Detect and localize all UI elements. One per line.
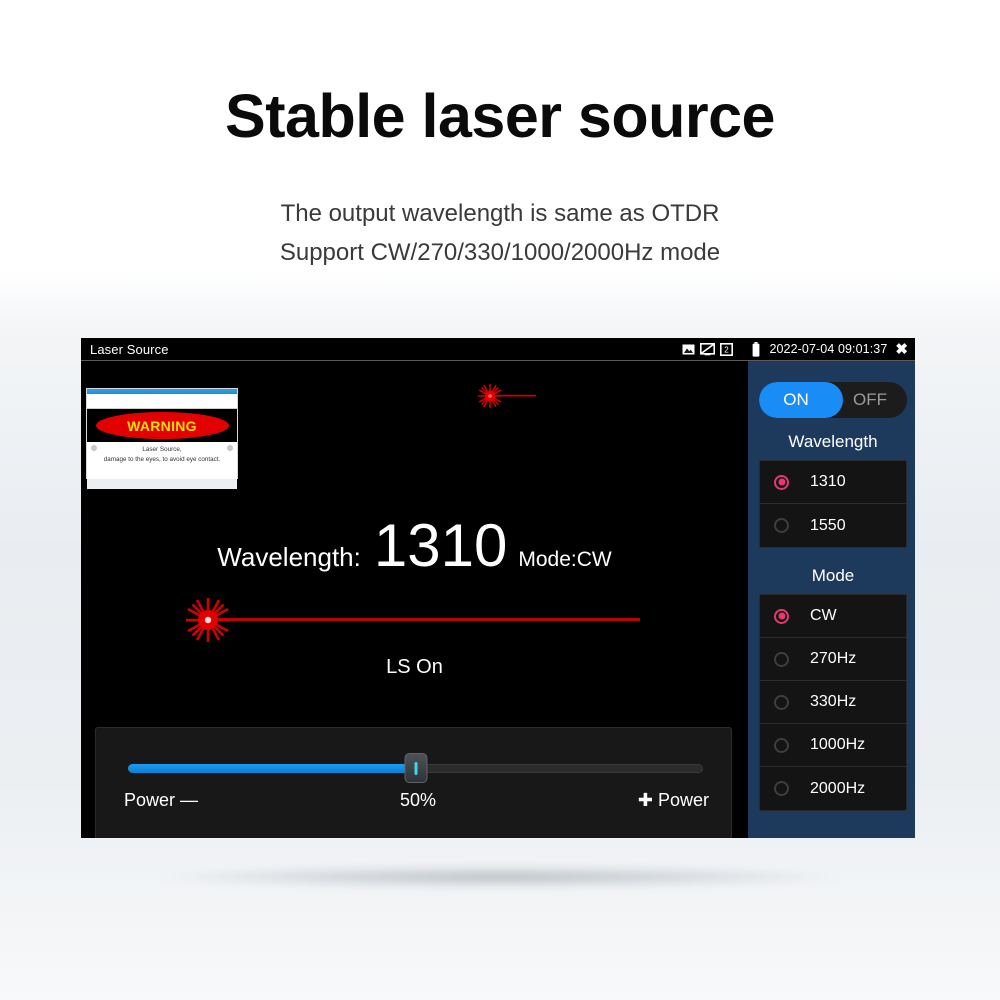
side-panel: ON OFF Wavelength 1310 1550 Mode CW <box>748 361 915 838</box>
warning-corner-dot-left <box>91 445 97 451</box>
sd-card-icon[interactable]: 2 <box>720 343 733 356</box>
wavelength-readout-value: 1310 <box>374 516 507 576</box>
no-signal-icon[interactable] <box>700 343 715 356</box>
warning-corner-dot-right <box>227 445 233 451</box>
power-increase-button[interactable]: ✚ Power <box>638 790 709 811</box>
wavelength-readout-label: Wavelength: <box>217 542 361 573</box>
image-icon[interactable] <box>682 344 695 355</box>
hero-subtitle-1: The output wavelength is same as OTDR <box>0 196 1000 232</box>
status-icon-group: 2 <box>682 342 760 357</box>
app-title: Laser Source <box>90 342 169 357</box>
wavelength-option-1310[interactable]: 1310 <box>760 461 906 504</box>
mode-option-1000hz[interactable]: 1000Hz <box>760 724 906 767</box>
warning-dialog-footer <box>87 479 237 489</box>
toggle-on-option[interactable]: ON <box>759 382 833 418</box>
mode-option-270hz[interactable]: 270Hz <box>760 638 906 681</box>
laser-warning-dialog: WARNING Laser Source, damage to the eyes… <box>86 388 238 479</box>
wavelength-section-heading: Wavelength <box>759 432 907 452</box>
warning-dialog-blank-strip <box>87 394 237 409</box>
mode-readout-label: Mode:CW <box>518 548 611 572</box>
main-screen: WARNING Laser Source, damage to the eyes… <box>81 361 748 838</box>
mode-option-330hz[interactable]: 330Hz <box>760 681 906 724</box>
power-slider-fill <box>128 764 416 773</box>
mode-option-label: 330Hz <box>810 693 856 711</box>
radio-selected-icon[interactable] <box>774 609 789 624</box>
wavelength-option-label: 1550 <box>810 517 846 535</box>
radio-unselected-icon[interactable] <box>774 518 789 533</box>
device-drop-shadow <box>160 866 840 888</box>
device-body: WARNING Laser Source, damage to the eyes… <box>81 361 915 838</box>
wavelength-option-1550[interactable]: 1550 <box>760 504 906 547</box>
toggle-off-option[interactable]: OFF <box>833 382 907 418</box>
power-percent-value: 50% <box>400 790 436 811</box>
power-decrease-button[interactable]: Power — <box>124 790 198 811</box>
power-label-row: Power — 50% ✚ Power <box>124 790 709 811</box>
radio-unselected-icon[interactable] <box>774 695 789 710</box>
close-icon[interactable]: ✖ <box>895 342 908 357</box>
mode-option-label: 270Hz <box>810 650 856 668</box>
mode-option-cw[interactable]: CW <box>760 595 906 638</box>
hero-section: Stable laser source The output wavelengt… <box>0 0 1000 270</box>
mode-section-heading: Mode <box>759 566 907 586</box>
mode-option-2000hz[interactable]: 2000Hz <box>760 767 906 810</box>
power-panel: Power — 50% ✚ Power <box>95 727 732 838</box>
warning-badge-label: WARNING <box>127 418 197 434</box>
mode-option-label: CW <box>810 607 837 625</box>
warning-text-line-1: Laser Source, <box>98 445 226 455</box>
power-slider-handle[interactable] <box>404 753 427 783</box>
svg-text:2: 2 <box>725 345 730 354</box>
wavelength-option-label: 1310 <box>810 473 846 491</box>
page-title: Stable laser source <box>0 86 1000 147</box>
radio-unselected-icon[interactable] <box>774 781 789 796</box>
radio-unselected-icon[interactable] <box>774 652 789 667</box>
warning-banner-row: WARNING <box>87 409 237 442</box>
mode-option-label: 1000Hz <box>810 736 865 754</box>
power-slider[interactable] <box>128 762 703 774</box>
battery-icon[interactable] <box>752 342 760 357</box>
warning-text-line-2: damage to the eyes, to avoid eye contact… <box>98 455 226 465</box>
mode-option-group: CW 270Hz 330Hz 1000Hz 2000Hz <box>759 594 907 811</box>
laser-beam-graphic <box>184 596 644 644</box>
laser-emitter-small-icon <box>474 381 540 411</box>
warning-text-area: Laser Source, damage to the eyes, to avo… <box>87 442 237 479</box>
wavelength-readout: Wavelength: 1310 Mode:CW <box>81 516 748 576</box>
device-screen: Laser Source 2 2022-07-04 09:01:37 ✖ <box>81 338 915 838</box>
status-datetime: 2022-07-04 09:01:37 <box>769 342 887 356</box>
laser-power-toggle[interactable]: ON OFF <box>759 382 907 418</box>
titlebar: Laser Source 2 2022-07-04 09:01:37 ✖ <box>81 338 915 361</box>
radio-selected-icon[interactable] <box>774 475 789 490</box>
mode-option-label: 2000Hz <box>810 780 865 798</box>
hero-subtitle-2: Support CW/270/330/1000/2000Hz mode <box>0 235 1000 271</box>
laser-status-text: LS On <box>81 656 748 679</box>
warning-badge: WARNING <box>96 412 229 439</box>
radio-unselected-icon[interactable] <box>774 738 789 753</box>
wavelength-option-group: 1310 1550 <box>759 460 907 548</box>
